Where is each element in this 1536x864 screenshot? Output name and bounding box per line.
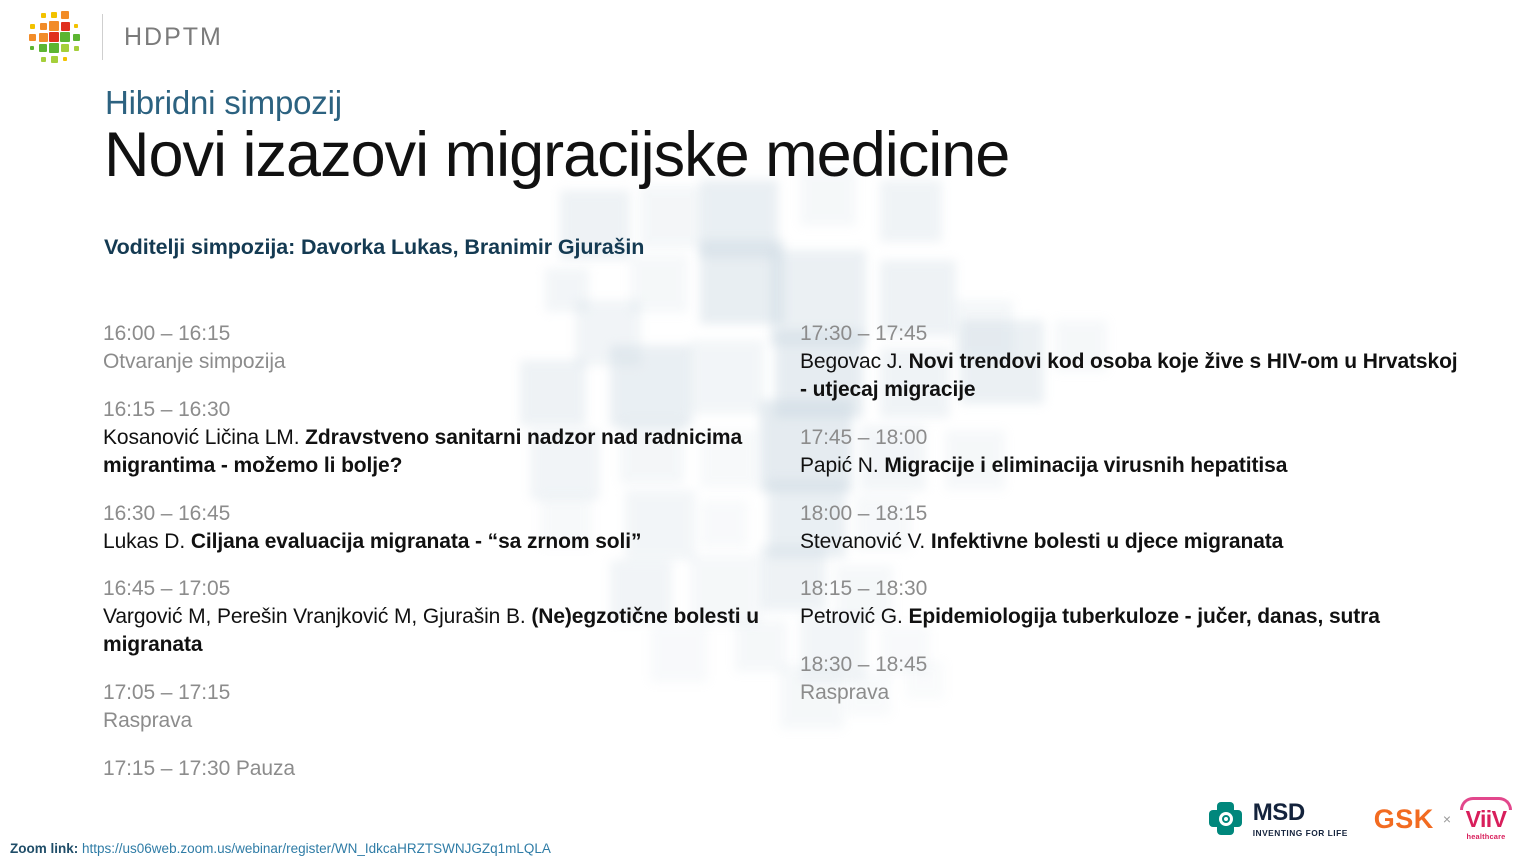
- sponsor-logos: MSD INVENTING FOR LIFE GSK × ViiV health…: [1208, 794, 1512, 844]
- session-speaker: Rasprava: [103, 709, 192, 732]
- sponsor-gsk-viiv: GSK × ViiV healthcare: [1374, 797, 1512, 841]
- brand-name: HDPTM: [124, 23, 223, 52]
- session-talk-title: Ciljana evaluacija migranata - “sa zrnom…: [191, 530, 642, 553]
- background-square: [630, 255, 688, 313]
- session-time: 18:30 – 18:45: [800, 651, 1460, 679]
- slide-kicker: Hibridni simpozij: [105, 84, 342, 122]
- session-body: Vargović M, Perešin Vranjković M, Gjuraš…: [103, 603, 763, 659]
- page-title: Novi izazovi migracijske medicine: [104, 122, 1009, 188]
- session-body: Begovac J. Novi trendovi kod osoba koje …: [800, 348, 1460, 404]
- slide-canvas: HDPTM Hibridni simpozij Novi izazovi mig…: [0, 0, 1536, 864]
- session-time: 16:00 – 16:15: [103, 320, 763, 348]
- session-time: 16:45 – 17:05: [103, 575, 763, 603]
- session-item: 18:15 – 18:30Petrović G. Epidemiologija …: [800, 575, 1460, 631]
- moderators-line: Voditelji simpozija: Davorka Lukas, Bran…: [104, 235, 644, 260]
- header-divider: [102, 14, 103, 60]
- session-item: 18:30 – 18:45Rasprava: [800, 651, 1460, 707]
- session-speaker: Papić N.: [800, 454, 884, 477]
- session-speaker: Vargović M, Perešin Vranjković M, Gjuraš…: [103, 605, 531, 628]
- session-talk-title: Infektivne bolesti u djece migranata: [931, 530, 1283, 553]
- session-speaker: Lukas D.: [103, 530, 191, 553]
- sponsor-separator-icon: ×: [1443, 811, 1451, 827]
- session-time: 18:15 – 18:30: [800, 575, 1460, 603]
- background-square: [700, 240, 784, 324]
- viiv-logo: ViiV healthcare: [1460, 797, 1512, 841]
- session-item: 17:05 – 17:15Rasprava: [103, 679, 763, 735]
- session-talk-title: Migracije i eliminacija virusnih hepatit…: [884, 454, 1287, 477]
- session-time: 16:30 – 16:45: [103, 500, 763, 528]
- session-item: 16:15 – 16:30Kosanović Ličina LM. Zdravs…: [103, 396, 763, 480]
- session-item: 16:00 – 16:15Otvaranje simpozija: [103, 320, 763, 376]
- msd-tagline: INVENTING FOR LIFE: [1253, 829, 1348, 837]
- session-time: 17:30 – 17:45: [800, 320, 1460, 348]
- session-speaker: Otvaranje simpozija: [103, 350, 286, 373]
- session-speaker: Rasprava: [800, 681, 889, 704]
- session-break: 17:15 – 17:30 Pauza: [103, 755, 763, 783]
- session-body: Stevanović V. Infektivne bolesti u djece…: [800, 528, 1460, 556]
- session-body: Lukas D. Ciljana evaluacija migranata - …: [103, 528, 763, 556]
- background-square: [545, 268, 589, 312]
- hdptm-mosaic-logo-icon: [26, 9, 82, 65]
- session-speaker: Begovac J.: [800, 350, 909, 373]
- zoom-link-url[interactable]: https://us06web.zoom.us/webinar/register…: [82, 841, 551, 856]
- viiv-name: ViiV: [1466, 808, 1507, 831]
- session-body: Rasprava: [103, 707, 763, 735]
- session-speaker: Petrović G.: [800, 605, 909, 628]
- session-item: 18:00 – 18:15Stevanović V. Infektivne bo…: [800, 500, 1460, 556]
- session-speaker: Kosanović Ličina LM.: [103, 426, 305, 449]
- gsk-name: GSK: [1374, 804, 1434, 835]
- session-body: Otvaranje simpozija: [103, 348, 763, 376]
- session-item: 16:45 – 17:05Vargović M, Perešin Vranjko…: [103, 575, 763, 659]
- sponsor-msd: MSD INVENTING FOR LIFE: [1208, 801, 1348, 837]
- program-column-right: 17:30 – 17:45Begovac J. Novi trendovi ko…: [800, 320, 1460, 727]
- background-square: [700, 180, 778, 258]
- zoom-link[interactable]: Zoom link: https://us06web.zoom.us/webin…: [10, 841, 551, 856]
- session-speaker: Stevanović V.: [800, 530, 931, 553]
- session-body: Papić N. Migracije i eliminacija virusni…: [800, 452, 1460, 480]
- session-item: 17:45 – 18:00Papić N. Migracije i elimin…: [800, 424, 1460, 480]
- session-time: 17:05 – 17:15: [103, 679, 763, 707]
- viiv-tagline: healthcare: [1467, 832, 1506, 841]
- msd-quatrefoil-icon: [1208, 801, 1244, 837]
- session-body: Rasprava: [800, 679, 1460, 707]
- session-time: 16:15 – 16:30: [103, 396, 763, 424]
- msd-name: MSD: [1253, 801, 1348, 825]
- session-time: 18:00 – 18:15: [800, 500, 1460, 528]
- session-item: 16:30 – 16:45Lukas D. Ciljana evaluacija…: [103, 500, 763, 556]
- session-body: Kosanović Ličina LM. Zdravstveno sanitar…: [103, 424, 763, 480]
- session-talk-title: Epidemiologija tuberkuloze - jučer, dana…: [909, 605, 1380, 628]
- program-column-left: 16:00 – 16:15Otvaranje simpozija16:15 – …: [103, 320, 763, 783]
- session-time: 17:45 – 18:00: [800, 424, 1460, 452]
- slide-header: HDPTM: [0, 0, 1536, 74]
- session-item: 17:30 – 17:45Begovac J. Novi trendovi ko…: [800, 320, 1460, 404]
- zoom-link-label: Zoom link:: [10, 841, 78, 856]
- background-square: [640, 186, 702, 248]
- session-body: Petrović G. Epidemiologija tuberkuloze -…: [800, 603, 1460, 631]
